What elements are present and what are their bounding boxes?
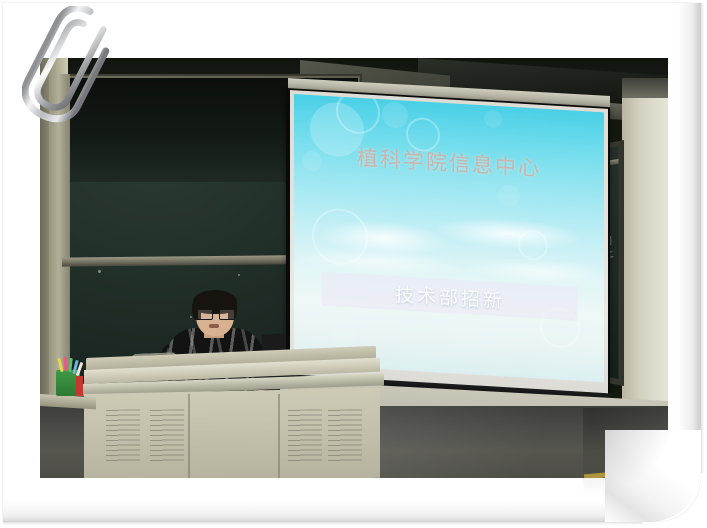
glasses-lens-left [197,309,213,320]
glasses-lens-right [219,309,235,320]
bubble-decoration [484,109,502,128]
projected-slide: 植科学院信息中心 技术部招新 [294,94,604,382]
podium-vent [288,409,322,462]
chalk-mark [238,274,240,276]
podium-panel-seam [278,394,280,478]
podium-vent [106,409,140,462]
chalk-mark [98,270,101,273]
floor-reflection [340,406,668,478]
presenter-mouth [209,324,219,328]
cloud-decoration [434,214,584,253]
photo-frame: 好好学习 天天向上 植科学院信息中心 技术部招新 [0,0,707,528]
podium-panel-seam [188,394,190,478]
slide-subtitle: 技术部招新 [395,279,505,313]
bubble-decoration [382,101,408,129]
slide-title: 植科学院信息中心 [357,142,541,183]
bubble-decoration [302,150,322,171]
photograph: 好好学习 天天向上 植科学院信息中心 技术部招新 [40,58,668,478]
bubble-decoration [330,318,356,346]
podium-vent [150,409,184,462]
podium-vent [328,409,362,462]
bubble-decoration [498,184,520,207]
chalk-box-red [76,376,83,396]
glasses-bridge [211,312,219,313]
glasses-icon [197,309,233,318]
